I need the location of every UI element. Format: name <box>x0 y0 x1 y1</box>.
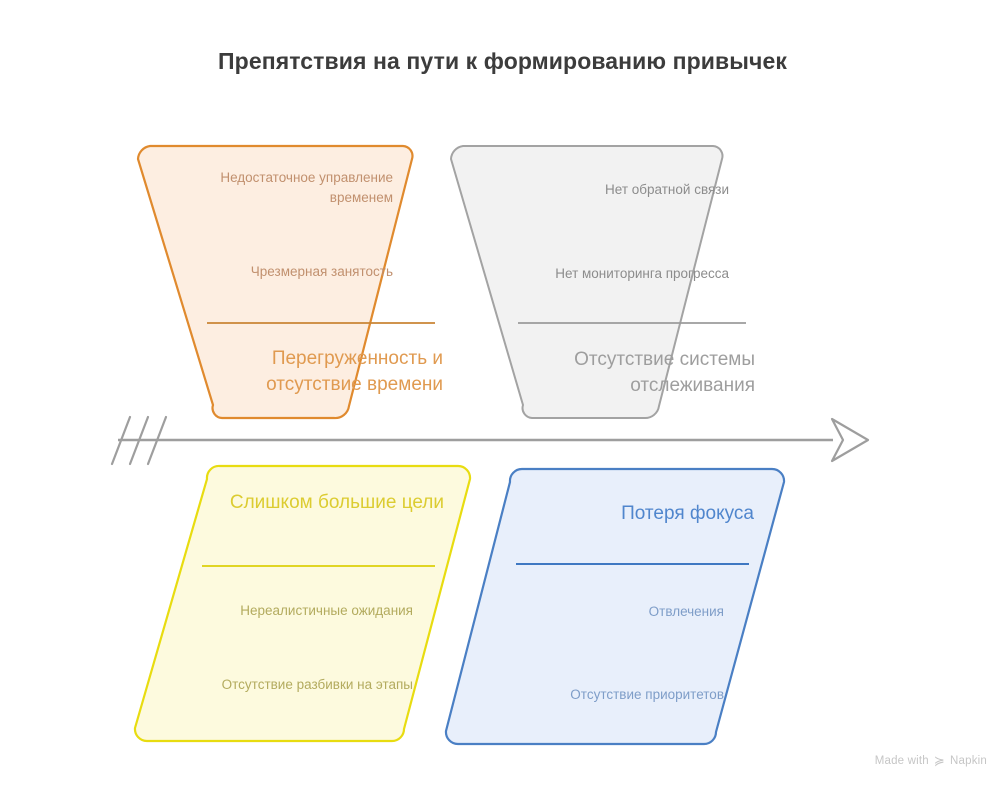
card-heading-label: Перегруженность и отсутствие времени <box>218 346 443 398</box>
card-heading-label: Потеря фокуса <box>530 501 754 527</box>
card-item-label: Нет обратной связи <box>515 180 729 200</box>
watermark-prefix: Made with <box>875 755 929 767</box>
diagram-canvas: Препятствия на пути к формированию привы… <box>0 0 1005 793</box>
card-item-label: Нет мониторинга прогресса <box>515 264 729 284</box>
card-heading-overload: Перегруженность и отсутствие времени <box>218 346 443 398</box>
card-item-overload-2: Чрезмерная занятость <box>178 262 393 282</box>
card-item-label: Чрезмерная занятость <box>178 262 393 282</box>
card-heading-label: Отсутствие системы отслеживания <box>528 347 755 399</box>
card-item-no-tracking-1: Нет обратной связи <box>515 180 729 200</box>
napkin-logo-icon: ≽ <box>934 754 945 767</box>
card-item-label: Отвлечения <box>530 602 724 622</box>
card-item-overload-1: Недостаточное управление временем <box>178 168 393 208</box>
card-item-label: Отсутствие разбивки на этапы <box>200 675 413 695</box>
card-item-loss-of-focus-1: Отвлечения <box>530 602 724 622</box>
card-heading-loss-of-focus: Потеря фокуса <box>530 501 754 527</box>
card-item-too-big-goals-1: Нереалистичные ожидания <box>200 601 413 621</box>
watermark-brand: Napkin <box>950 755 987 767</box>
arrow-fletching-icon <box>112 417 166 464</box>
diagram-shape-layer <box>0 0 1005 793</box>
card-heading-label: Слишком большие цели <box>222 490 444 516</box>
card-item-label: Отсутствие приоритетов <box>505 685 724 705</box>
card-item-loss-of-focus-2: Отсутствие приоритетов <box>505 685 724 705</box>
card-item-no-tracking-2: Нет мониторинга прогресса <box>515 264 729 284</box>
card-item-too-big-goals-2: Отсутствие разбивки на этапы <box>200 675 413 695</box>
card-item-label: Недостаточное управление временем <box>178 168 393 208</box>
arrow-head-icon <box>832 419 868 461</box>
spine-arrow <box>112 417 868 464</box>
card-heading-too-big-goals: Слишком большие цели <box>222 490 444 516</box>
napkin-watermark[interactable]: Made with ≽ Napkin <box>875 754 987 767</box>
card-item-label: Нереалистичные ожидания <box>200 601 413 621</box>
card-heading-no-tracking: Отсутствие системы отслеживания <box>528 347 755 399</box>
